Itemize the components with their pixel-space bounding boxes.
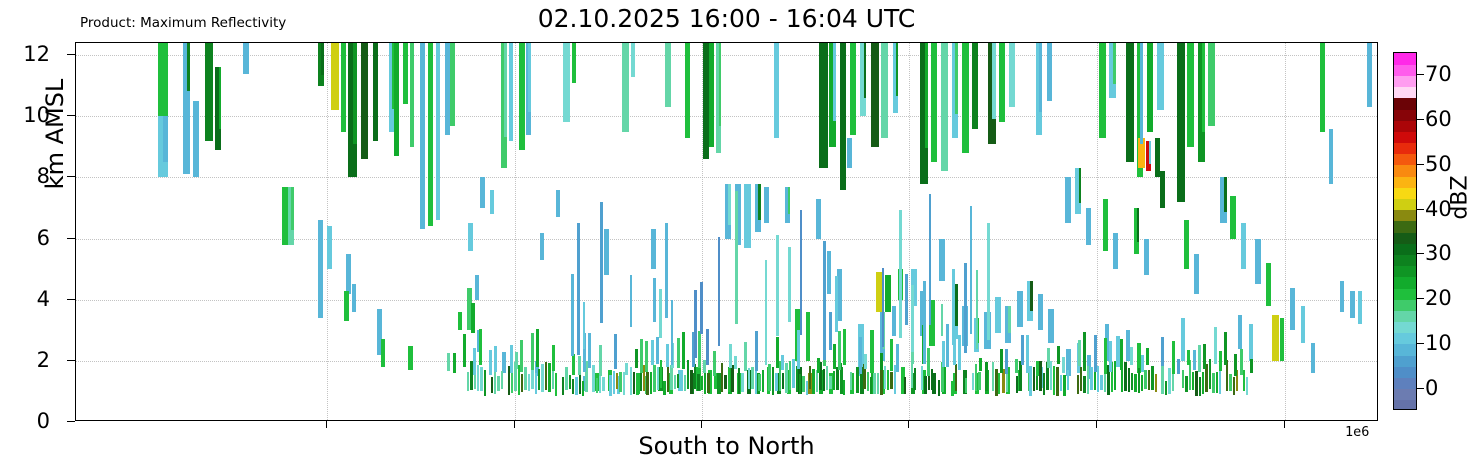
reflectivity-cell xyxy=(666,344,669,367)
reflectivity-cell xyxy=(764,187,769,224)
reflectivity-cell xyxy=(1137,208,1139,242)
reflectivity-cell xyxy=(540,233,544,261)
reflectivity-cell xyxy=(741,373,743,393)
reflectivity-cell xyxy=(361,43,368,159)
reflectivity-cell xyxy=(1047,348,1050,368)
colorbar-segment xyxy=(1394,187,1416,199)
reflectivity-cell xyxy=(1036,374,1038,389)
reflectivity-cell xyxy=(619,372,621,392)
reflectivity-cell xyxy=(1103,199,1108,251)
reflectivity-cell xyxy=(665,223,668,318)
reflectivity-cell xyxy=(1367,43,1371,107)
reflectivity-cell xyxy=(1050,361,1052,390)
reflectivity-cell xyxy=(1157,43,1164,110)
reflectivity-cell xyxy=(651,229,656,269)
reflectivity-cell xyxy=(1193,350,1196,370)
reflectivity-cell xyxy=(871,43,879,147)
reflectivity-cell xyxy=(835,276,838,332)
reflectivity-cell xyxy=(420,43,425,229)
colorbar-segment xyxy=(1394,176,1416,188)
reflectivity-cell xyxy=(870,377,872,393)
reflectivity-cell xyxy=(731,365,733,392)
reflectivity-cell xyxy=(817,358,820,373)
reflectivity-cell xyxy=(583,302,586,349)
reflectivity-cell xyxy=(509,43,514,141)
x-axis-label: South to North xyxy=(75,432,1378,460)
reflectivity-cell xyxy=(344,291,349,322)
y-tick-mark xyxy=(67,54,75,55)
reflectivity-cell xyxy=(1195,371,1197,395)
reflectivity-cell xyxy=(768,364,770,391)
reflectivity-cell xyxy=(489,350,492,375)
reflectivity-cell xyxy=(1128,368,1130,392)
reflectivity-cell xyxy=(744,342,747,371)
reflectivity-cell xyxy=(1250,359,1253,373)
reflectivity-cell xyxy=(958,335,961,370)
reflectivity-cell xyxy=(938,380,940,395)
reflectivity-cell xyxy=(458,312,462,330)
reflectivity-cell xyxy=(837,269,842,321)
reflectivity-cell xyxy=(925,43,929,148)
colorbar-segment xyxy=(1394,366,1416,378)
reflectivity-cell xyxy=(721,363,723,392)
reflectivity-cell xyxy=(1121,366,1123,392)
reflectivity-cell xyxy=(521,374,523,391)
reflectivity-cell xyxy=(327,226,332,269)
reflectivity-cell xyxy=(850,43,857,135)
reflectivity-cell xyxy=(738,368,740,394)
y-tick-label: 8 xyxy=(37,164,50,188)
reflectivity-cell xyxy=(776,235,779,336)
reflectivity-cell xyxy=(531,370,533,388)
reflectivity-cell xyxy=(1203,344,1206,369)
reflectivity-cell xyxy=(552,368,554,389)
reflectivity-cell xyxy=(819,43,828,168)
x-tick-mark xyxy=(514,421,515,428)
reflectivity-cell xyxy=(1065,177,1072,223)
reflectivity-cell xyxy=(373,43,378,141)
reflectivity-cell xyxy=(972,373,974,390)
reflectivity-cell xyxy=(282,187,288,245)
reflectivity-cell xyxy=(1202,43,1205,132)
reflectivity-cell xyxy=(1094,335,1097,371)
plot-area[interactable] xyxy=(75,42,1378,421)
reflectivity-cell xyxy=(1120,339,1123,369)
reflectivity-cell xyxy=(882,268,885,347)
reflectivity-cell xyxy=(812,369,814,393)
reflectivity-cell xyxy=(667,366,669,392)
reflectivity-cell xyxy=(687,360,689,389)
reflectivity-cell xyxy=(1126,43,1134,162)
reflectivity-cell xyxy=(651,340,654,365)
reflectivity-cell xyxy=(318,220,323,287)
reflectivity-cell xyxy=(833,371,835,390)
reflectivity-cell xyxy=(205,43,213,141)
reflectivity-cell xyxy=(1104,338,1107,374)
reflectivity-cell xyxy=(951,381,953,396)
reflectivity-cell xyxy=(494,346,497,372)
reflectivity-cell xyxy=(972,43,978,129)
reflectivity-cell xyxy=(885,275,891,312)
reflectivity-cell xyxy=(776,337,779,368)
reflectivity-cell xyxy=(827,251,832,294)
reflectivity-cell xyxy=(826,366,828,390)
y-tick-mark xyxy=(67,421,75,422)
reflectivity-cell xyxy=(829,376,831,390)
reflectivity-cell xyxy=(596,378,598,393)
reflectivity-cell xyxy=(501,371,503,389)
reflectivity-cell xyxy=(582,381,584,396)
colorbar-segment xyxy=(1394,198,1416,210)
reflectivity-cell xyxy=(987,223,990,340)
reflectivity-cell xyxy=(931,43,938,162)
reflectivity-cell xyxy=(800,210,803,334)
reflectivity-cell xyxy=(1086,208,1091,245)
reflectivity-cell xyxy=(1192,372,1194,390)
reflectivity-cell xyxy=(1311,343,1315,374)
radar-reflectivity-figure: Product: Maximum Reflectivity 02.10.2025… xyxy=(0,0,1482,470)
reflectivity-cell xyxy=(911,362,913,388)
reflectivity-cell xyxy=(782,373,784,389)
reflectivity-cell xyxy=(646,372,648,395)
colorbar-segment xyxy=(1394,143,1416,155)
reflectivity-cell xyxy=(1194,254,1199,294)
colorbar-segment xyxy=(1394,165,1416,177)
colorbar-segment xyxy=(1394,131,1416,143)
reflectivity-cell xyxy=(535,373,537,395)
reflectivity-cell xyxy=(890,339,893,372)
reflectivity-cell xyxy=(850,372,852,390)
reflectivity-cell xyxy=(470,361,472,390)
reflectivity-cell xyxy=(843,380,845,395)
reflectivity-cell xyxy=(565,367,567,390)
reflectivity-cell xyxy=(625,363,628,376)
reflectivity-cell xyxy=(1146,348,1149,365)
reflectivity-cell xyxy=(698,331,701,368)
reflectivity-cell xyxy=(892,306,897,337)
colorbar-segment xyxy=(1394,333,1416,345)
reflectivity-cell xyxy=(905,274,908,324)
reflectivity-cell xyxy=(1140,43,1143,144)
reflectivity-cell xyxy=(321,43,323,75)
reflectivity-cell xyxy=(1043,373,1045,395)
colorbar-segment xyxy=(1394,87,1416,99)
reflectivity-cell xyxy=(1208,43,1214,126)
reflectivity-cell xyxy=(1090,367,1092,390)
reflectivity-cell xyxy=(622,43,629,132)
reflectivity-cell xyxy=(955,284,958,325)
x-tick-mark xyxy=(1096,421,1097,428)
reflectivity-cell xyxy=(163,116,167,162)
reflectivity-cell xyxy=(881,43,888,138)
reflectivity-cell xyxy=(992,362,994,391)
reflectivity-cell xyxy=(1047,43,1052,101)
reflectivity-cell xyxy=(992,43,996,119)
reflectivity-cell xyxy=(471,303,476,334)
reflectivity-cell xyxy=(353,43,357,144)
reflectivity-cell xyxy=(942,341,945,368)
reflectivity-cell xyxy=(1219,351,1222,371)
reflectivity-cell xyxy=(1113,43,1116,84)
colorbar-segment xyxy=(1394,254,1416,266)
reflectivity-cell xyxy=(592,365,594,392)
x-tick-mark xyxy=(701,421,702,428)
reflectivity-cell xyxy=(1009,43,1015,107)
reflectivity-cell xyxy=(843,329,846,365)
reflectivity-cell xyxy=(556,190,561,218)
reflectivity-cell xyxy=(381,339,385,367)
colorbar-segment xyxy=(1394,64,1416,76)
y-tick-label: 2 xyxy=(37,348,50,372)
y-tick-label: 6 xyxy=(37,226,50,250)
reflectivity-cell xyxy=(718,237,721,346)
reflectivity-cell xyxy=(480,177,485,208)
reflectivity-cell xyxy=(899,210,902,338)
reflectivity-cell xyxy=(1187,43,1194,147)
reflectivity-cell xyxy=(1301,306,1305,343)
reflectivity-cell xyxy=(428,43,433,226)
colorbar-tick-mark xyxy=(1417,343,1424,344)
reflectivity-cell xyxy=(1124,362,1126,391)
reflectivity-cell xyxy=(833,344,836,369)
reflectivity-cell xyxy=(1240,349,1243,375)
reflectivity-cell xyxy=(318,284,322,318)
reflectivity-cell xyxy=(657,367,659,390)
reflectivity-cell xyxy=(653,365,655,393)
colorbar[interactable] xyxy=(1393,52,1417,410)
reflectivity-cell xyxy=(1177,43,1185,202)
reflectivity-cell xyxy=(677,374,679,388)
reflectivity-cell xyxy=(468,223,473,251)
reflectivity-cell xyxy=(890,372,892,389)
reflectivity-cell xyxy=(490,190,494,214)
reflectivity-cell xyxy=(694,290,697,358)
reflectivity-cell xyxy=(1177,359,1180,373)
reflectivity-cell xyxy=(1241,223,1246,269)
reflectivity-cell xyxy=(630,275,633,327)
colorbar-segment xyxy=(1394,75,1416,87)
reflectivity-cell xyxy=(1320,43,1325,132)
reflectivity-cell xyxy=(799,374,801,394)
reflectivity-cell xyxy=(450,43,455,126)
reflectivity-cell xyxy=(792,359,794,389)
y-tick-mark xyxy=(67,238,75,239)
reflectivity-cell xyxy=(694,364,696,389)
reflectivity-cell xyxy=(520,340,523,372)
reflectivity-cell xyxy=(952,269,955,345)
reflectivity-cell xyxy=(1005,349,1008,375)
reflectivity-cell xyxy=(929,194,932,325)
y-tick-label: 4 xyxy=(37,287,50,311)
reflectivity-cell xyxy=(1165,381,1167,395)
reflectivity-cell xyxy=(1230,196,1236,239)
reflectivity-cell xyxy=(927,348,930,375)
reflectivity-cell xyxy=(479,329,482,365)
reflectivity-cell xyxy=(477,365,479,391)
colorbar-tick-mark xyxy=(1417,74,1424,75)
reflectivity-cell xyxy=(187,43,190,91)
reflectivity-cell xyxy=(1016,376,1018,392)
reflectivity-cell xyxy=(291,187,293,231)
reflectivity-cell xyxy=(833,43,836,121)
reflectivity-cell xyxy=(219,67,222,129)
reflectivity-cell xyxy=(1114,361,1116,390)
reflectivity-cell xyxy=(1184,220,1190,269)
colorbar-segment xyxy=(1394,221,1416,233)
reflectivity-cell xyxy=(819,199,821,229)
reflectivity-cell xyxy=(671,300,674,366)
reflectivity-cell xyxy=(640,373,642,391)
reflectivity-cell xyxy=(728,184,731,225)
reflectivity-cell xyxy=(1056,367,1058,395)
reflectivity-cell xyxy=(572,379,574,394)
reflectivity-cell xyxy=(1017,291,1023,328)
reflectivity-cell xyxy=(880,368,882,395)
reflectivity-cell xyxy=(1147,43,1153,132)
reflectivity-cell xyxy=(1238,315,1242,349)
reflectivity-cell xyxy=(684,375,686,391)
reflectivity-cell xyxy=(979,358,982,370)
reflectivity-cell xyxy=(602,377,604,391)
colorbar-tick-mark xyxy=(1417,164,1424,165)
reflectivity-cell xyxy=(630,367,632,394)
reflectivity-cell xyxy=(873,373,875,394)
reflectivity-cell xyxy=(536,329,539,367)
reflectivity-cell xyxy=(1172,373,1174,391)
reflectivity-cell xyxy=(970,206,973,333)
reflectivity-cell xyxy=(682,332,685,369)
reflectivity-cell xyxy=(572,354,575,375)
reflectivity-cell xyxy=(578,356,581,374)
reflectivity-cell xyxy=(562,377,564,394)
reflectivity-cell xyxy=(1233,377,1235,395)
reflectivity-cell xyxy=(964,263,967,353)
y-tick-mark xyxy=(67,360,75,361)
colorbar-tick-mark xyxy=(1417,388,1424,389)
colorbar-segment xyxy=(1394,243,1416,255)
reflectivity-cell xyxy=(772,367,774,395)
reflectivity-cell xyxy=(1168,368,1170,394)
reflectivity-cell xyxy=(999,43,1006,122)
colorbar-tick-label: 10 xyxy=(1425,331,1452,355)
reflectivity-cell xyxy=(1172,341,1175,375)
reflectivity-cell xyxy=(677,338,680,368)
reflectivity-cell xyxy=(510,345,513,373)
y-tick-mark xyxy=(67,115,75,116)
reflectivity-cell xyxy=(1131,373,1133,390)
reflectivity-cell xyxy=(864,354,867,369)
reflectivity-cell xyxy=(724,375,726,389)
reflectivity-cell xyxy=(1198,345,1201,372)
reflectivity-cell xyxy=(653,278,656,322)
reflectivity-cell xyxy=(663,381,665,395)
reflectivity-cell xyxy=(609,375,611,396)
reflectivity-cell xyxy=(541,364,543,392)
x-axis-offset-text: 1e6 xyxy=(1345,424,1369,440)
reflectivity-cell xyxy=(1350,291,1354,319)
reflectivity-cell xyxy=(1030,281,1033,311)
reflectivity-cell xyxy=(1134,374,1136,392)
reflectivity-cell xyxy=(707,373,709,393)
reflectivity-cell xyxy=(1214,327,1217,364)
colorbar-tick-label: 0 xyxy=(1425,376,1438,400)
reflectivity-cell xyxy=(504,43,507,137)
y-tick-label: 0 xyxy=(37,409,50,433)
reflectivity-cell xyxy=(1255,239,1261,285)
reflectivity-cell xyxy=(788,187,790,215)
reflectivity-cell xyxy=(1080,367,1082,391)
colorbar-tick-mark xyxy=(1417,253,1424,254)
reflectivity-cell xyxy=(555,373,557,395)
reflectivity-cell xyxy=(1181,318,1185,361)
reflectivity-cell xyxy=(975,364,977,391)
reflectivity-cell xyxy=(569,375,571,389)
reflectivity-cell xyxy=(859,337,862,374)
reflectivity-cell xyxy=(914,368,916,390)
reflectivity-cell xyxy=(823,241,826,360)
reflectivity-cell xyxy=(884,366,886,388)
reflectivity-cell xyxy=(1094,372,1096,390)
reflectivity-cell xyxy=(1083,376,1085,393)
reflectivity-cell xyxy=(410,43,414,147)
reflectivity-cell xyxy=(985,362,987,391)
reflectivity-cell xyxy=(445,43,450,135)
reflectivity-cell xyxy=(941,43,948,171)
colorbar-segment xyxy=(1394,53,1416,65)
reflectivity-cell xyxy=(659,289,662,338)
reflectivity-cell xyxy=(887,370,889,390)
reflectivity-cell xyxy=(809,366,811,388)
reflectivity-cell xyxy=(1182,370,1184,388)
reflectivity-cell xyxy=(978,372,980,390)
reflectivity-cell xyxy=(877,373,879,394)
colorbar-segment xyxy=(1394,266,1416,278)
reflectivity-cell xyxy=(519,43,525,150)
reflectivity-cell xyxy=(475,275,479,299)
reflectivity-cell xyxy=(1083,332,1086,371)
reflectivity-cell xyxy=(515,352,518,369)
reflectivity-cell xyxy=(528,43,530,112)
reflectivity-cell xyxy=(751,367,753,389)
reflectivity-cell xyxy=(331,43,338,110)
reflectivity-cell xyxy=(352,284,356,312)
reflectivity-cell xyxy=(697,374,699,391)
reflectivity-cell xyxy=(665,43,672,107)
reflectivity-cell xyxy=(789,361,791,390)
reflectivity-cell xyxy=(1219,368,1221,394)
reflectivity-cell xyxy=(575,377,577,396)
reflectivity-cell xyxy=(1280,318,1284,361)
reflectivity-cell xyxy=(183,107,190,174)
colorbar-tick-mark xyxy=(1417,298,1424,299)
reflectivity-cell xyxy=(1185,376,1187,393)
reflectivity-cell xyxy=(640,339,643,373)
reflectivity-cell xyxy=(660,360,662,388)
y-tick-mark xyxy=(67,299,75,300)
reflectivity-cell xyxy=(463,334,466,367)
reflectivity-cell xyxy=(1234,354,1237,375)
reflectivity-cell xyxy=(531,333,534,370)
colorbar-segment xyxy=(1394,109,1416,121)
reflectivity-cell xyxy=(1151,366,1153,390)
reflectivity-cell xyxy=(1130,347,1133,365)
reflectivity-cell xyxy=(545,362,547,390)
reflectivity-cell xyxy=(840,43,846,190)
reflectivity-cell xyxy=(1340,281,1344,312)
reflectivity-cell xyxy=(864,43,867,98)
reflectivity-cell xyxy=(734,356,737,369)
y-tick-label: 10 xyxy=(23,103,50,127)
